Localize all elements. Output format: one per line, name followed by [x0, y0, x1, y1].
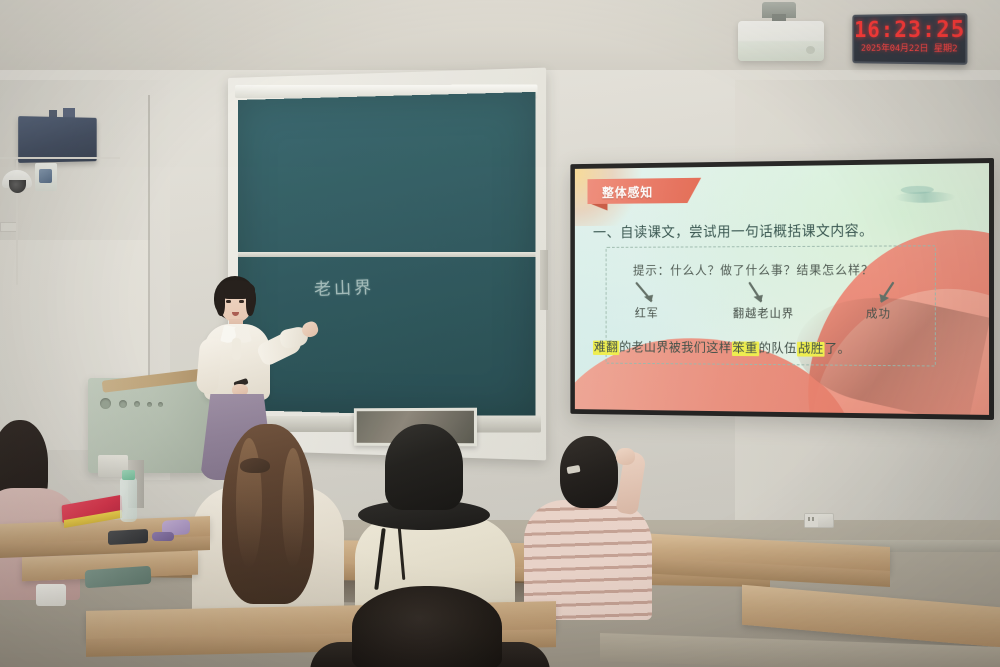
slide-banner-label: 整体感知 [602, 182, 653, 201]
podium-knob-4[interactable] [147, 402, 152, 407]
projector-lens-icon [806, 46, 815, 54]
teacher-eye-right [239, 300, 244, 303]
slide-answer-3: 成功 [866, 305, 891, 322]
slide-hint-text: 提示：什么人？做了什么事？结果怎么样？ [633, 259, 874, 278]
slide-summary-part-3: 的队伍 [759, 342, 797, 357]
student-hair-bow [240, 458, 270, 473]
smartphone [108, 529, 148, 545]
wall-monitor [18, 116, 97, 163]
cable-run [0, 157, 120, 159]
camera-housing-lens-icon [39, 169, 52, 183]
slide-section-banner: 整体感知 [588, 178, 702, 204]
podium-knob-1[interactable] [100, 398, 111, 409]
projector-icon [738, 21, 824, 61]
teacher-neck-tie [232, 338, 241, 360]
purple-pouch-2 [152, 532, 174, 541]
student-front-row-head [352, 586, 502, 667]
clock-date: 2025年04月22日 星期2 [854, 43, 965, 56]
podium-knob-2[interactable] [119, 400, 127, 408]
slide-answer-2: 翻越老山界 [733, 305, 794, 322]
podium-knob-3[interactable] [134, 401, 140, 407]
screen-mount [540, 250, 548, 310]
slide-summary-part-4: 战胜 [797, 342, 825, 357]
slide-answer-row: 红军 翻越老山界 成功 [620, 304, 932, 326]
wall-socket-pin-2 [812, 517, 814, 521]
slide-summary-sentence: 难翻的老山界被我们这样笨重的队伍战胜了。 [593, 337, 851, 357]
blackboard-divider [238, 252, 535, 257]
slide-summary-part-2: 笨重 [731, 341, 758, 356]
wall-socket-pin-1 [808, 517, 810, 521]
projection-screen: 整体感知 一、自读课文，尝试用一句话概括课文内容。 提示：什么人？做了什么事？结… [570, 158, 994, 420]
student-striped-shirt-hand [616, 448, 635, 465]
slide-summary-part-5: 了。 [825, 342, 851, 357]
teacher-eye-left [226, 300, 231, 303]
teacher-hair-left [216, 288, 225, 316]
classroom-scene: 16:23:25 2025年04月22日 星期2 老山界 [0, 0, 1000, 667]
teacher-hair-right [246, 288, 255, 316]
podium-knob-5[interactable] [158, 402, 163, 407]
clock-time: 16:23:25 [854, 18, 965, 43]
slide-summary-part-1: 的老山界被我们这样 [619, 341, 731, 356]
led-clock: 16:23:25 2025年04月22日 星期2 [852, 13, 967, 65]
student-hat-crown [385, 424, 463, 510]
slide-heading: 一、自读课文，尝试用一句话概括课文内容。 [593, 220, 874, 242]
slide-answer-1: 红军 [635, 304, 659, 320]
water-bottle [120, 478, 137, 522]
slide-summary-part-0: 难翻 [593, 341, 619, 356]
water-bottle-cap [122, 470, 135, 480]
student-long-hair-highlight-2 [282, 448, 304, 568]
slide: 整体感知 一、自读课文，尝试用一句话概括课文内容。 提示：什么人？做了什么事？结… [575, 163, 989, 415]
tissue-box [36, 584, 66, 606]
podium-controls[interactable] [100, 396, 180, 410]
